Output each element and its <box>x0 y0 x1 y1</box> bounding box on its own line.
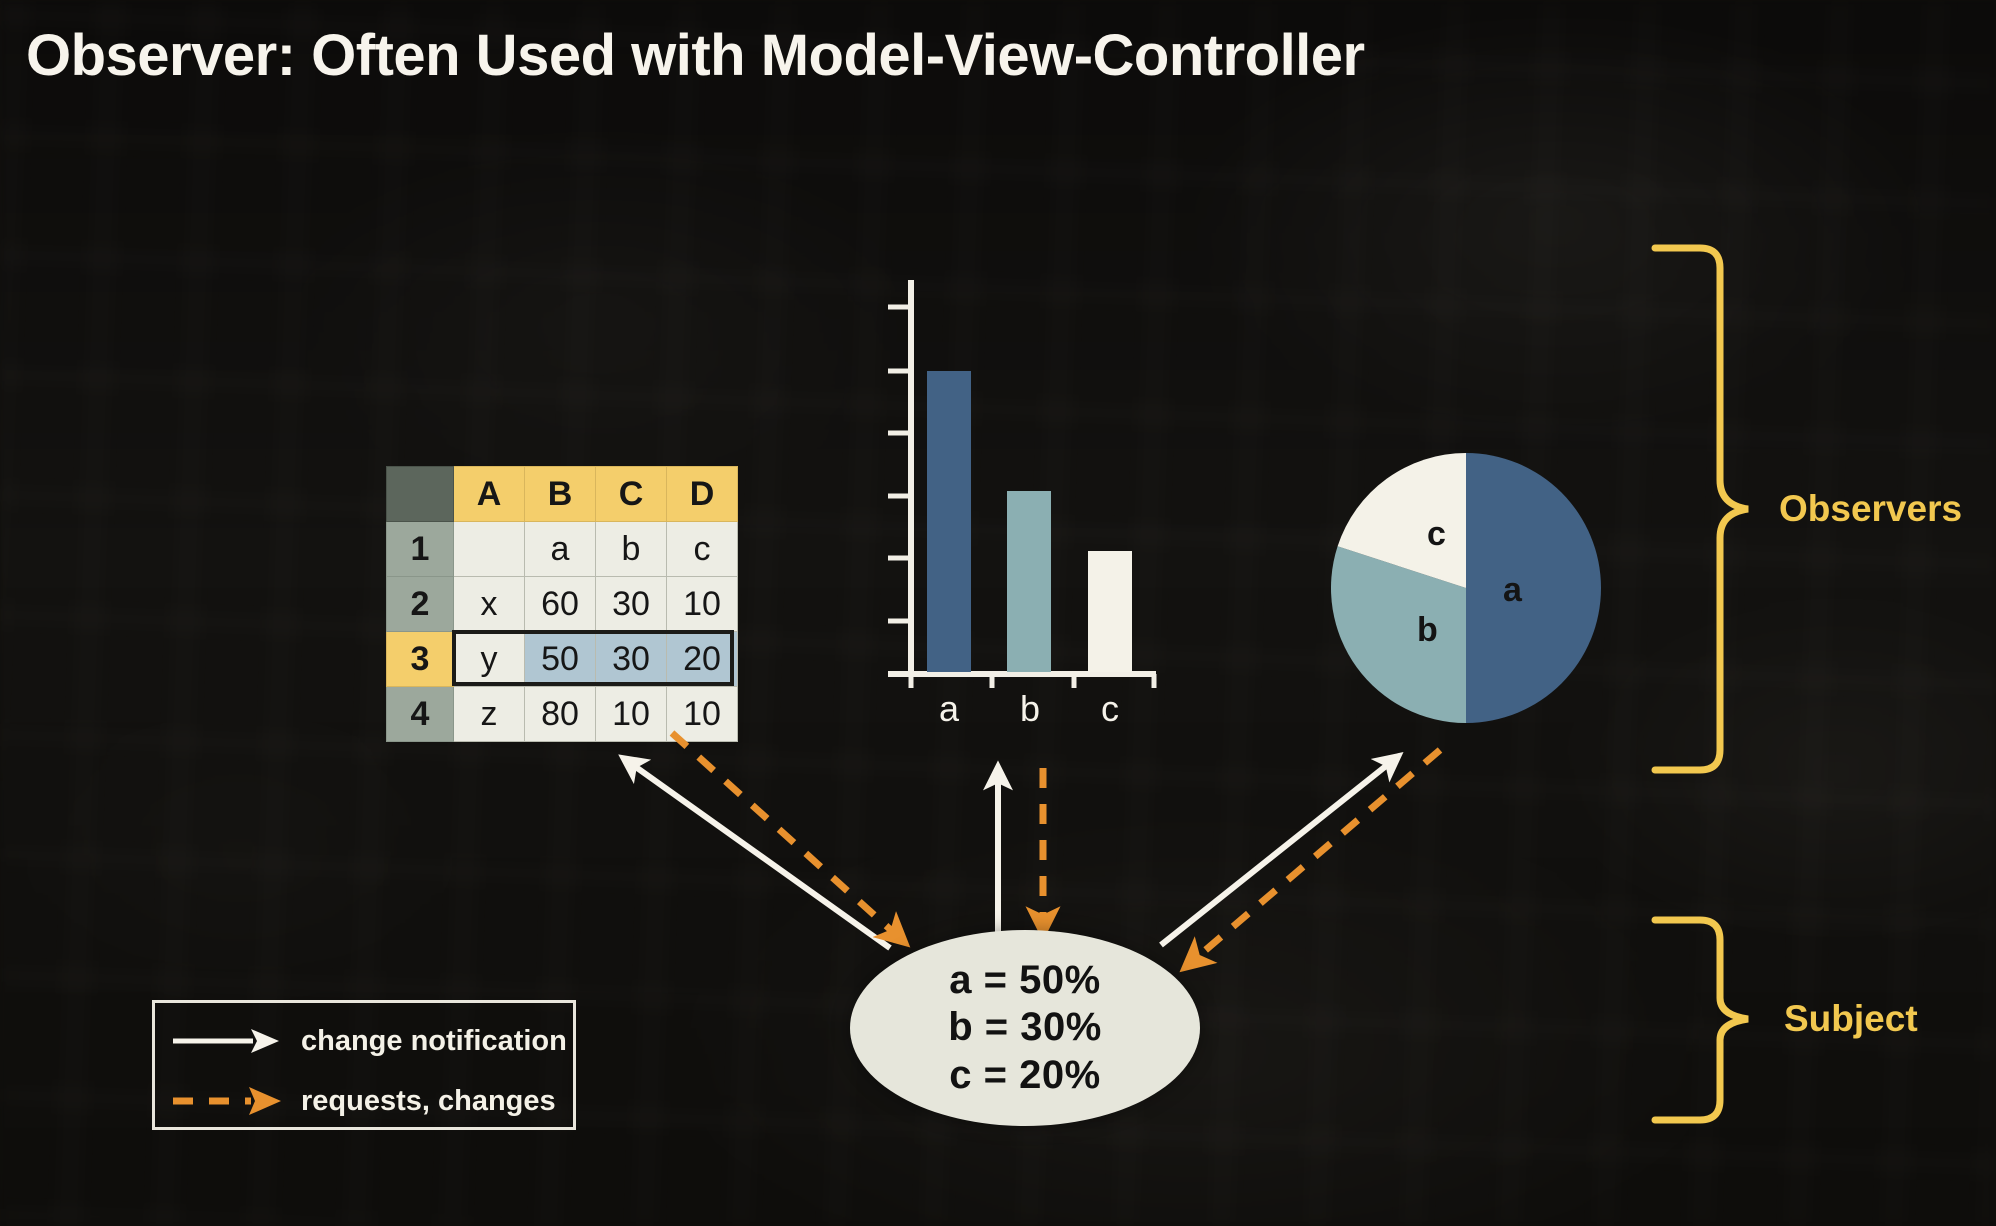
subject-model[interactable]: a = 50% b = 30% c = 20% <box>850 930 1200 1126</box>
bar-chart-svg <box>846 258 1176 688</box>
brace-label-observers: Observers <box>1779 488 1962 530</box>
bar-label-b: b <box>1005 688 1055 730</box>
pie-label-a: a <box>1503 571 1522 610</box>
table-row: 2 x 60 30 10 <box>387 577 738 632</box>
brace-label-subject: Subject <box>1784 998 1918 1040</box>
column-header-a[interactable]: A <box>454 467 525 522</box>
column-header-c[interactable]: C <box>596 467 667 522</box>
table-row-selected: 3 y 50 30 20 <box>387 632 738 687</box>
cell-c4[interactable]: 10 <box>596 687 667 742</box>
pie-label-b: b <box>1417 611 1438 650</box>
cell-b2[interactable]: 60 <box>525 577 596 632</box>
cell-c1[interactable]: b <box>596 522 667 577</box>
cell-a4[interactable]: z <box>454 687 525 742</box>
spreadsheet-grid: A B C D 1 a b c 2 x 60 30 10 3 y <box>386 466 738 742</box>
column-header-b[interactable]: B <box>525 467 596 522</box>
spreadsheet-table[interactable]: A B C D 1 a b c 2 x 60 30 10 3 y <box>386 466 738 742</box>
subject-line-c: c = 20% <box>949 1052 1100 1099</box>
table-header-row: A B C D <box>387 467 738 522</box>
pie-chart-view[interactable]: a b c <box>1331 453 1601 723</box>
cell-b1[interactable]: a <box>525 522 596 577</box>
cell-a1[interactable] <box>454 522 525 577</box>
legend-item-requests-changes: requests, changes <box>155 1073 573 1129</box>
page-title: Observer: Often Used with Model-View-Con… <box>26 22 1365 89</box>
pie-label-c: c <box>1427 515 1446 554</box>
table-row: 1 a b c <box>387 522 738 577</box>
cell-c3[interactable]: 30 <box>596 632 667 687</box>
cell-b4[interactable]: 80 <box>525 687 596 742</box>
pie-slice-a <box>1466 453 1601 723</box>
subject-line-a: a = 50% <box>949 957 1100 1004</box>
subject-line-b: b = 30% <box>948 1004 1102 1051</box>
legend-label-requests-changes: requests, changes <box>301 1085 556 1118</box>
slide-canvas: Observer: Often Used with Model-View-Con… <box>0 0 1996 1226</box>
bar-chart-view[interactable]: a b c <box>846 258 1176 718</box>
cell-d2[interactable]: 10 <box>667 577 738 632</box>
row-header-3[interactable]: 3 <box>387 632 454 687</box>
table-corner-cell[interactable] <box>387 467 454 522</box>
cell-b3[interactable]: 50 <box>525 632 596 687</box>
legend-item-change-notification: change notification <box>155 1013 573 1069</box>
cell-d4[interactable]: 10 <box>667 687 738 742</box>
row-header-1[interactable]: 1 <box>387 522 454 577</box>
bar-label-a: a <box>924 688 974 730</box>
cell-a3[interactable]: y <box>454 632 525 687</box>
column-header-d[interactable]: D <box>667 467 738 522</box>
row-header-2[interactable]: 2 <box>387 577 454 632</box>
bar-b <box>1007 491 1051 672</box>
bar-a <box>927 371 971 672</box>
cell-c2[interactable]: 30 <box>596 577 667 632</box>
bar-c <box>1088 551 1132 672</box>
cell-d3[interactable]: 20 <box>667 632 738 687</box>
row-header-4[interactable]: 4 <box>387 687 454 742</box>
pie-chart-svg <box>1331 453 1601 723</box>
legend-label-change-notification: change notification <box>301 1025 567 1058</box>
cell-a2[interactable]: x <box>454 577 525 632</box>
solid-arrow-icon <box>167 1021 287 1061</box>
table-row: 4 z 80 10 10 <box>387 687 738 742</box>
legend-box: change notification requests, changes <box>152 1000 576 1130</box>
bar-label-c: c <box>1085 688 1135 730</box>
dashed-arrow-icon <box>167 1081 287 1121</box>
cell-d1[interactable]: c <box>667 522 738 577</box>
